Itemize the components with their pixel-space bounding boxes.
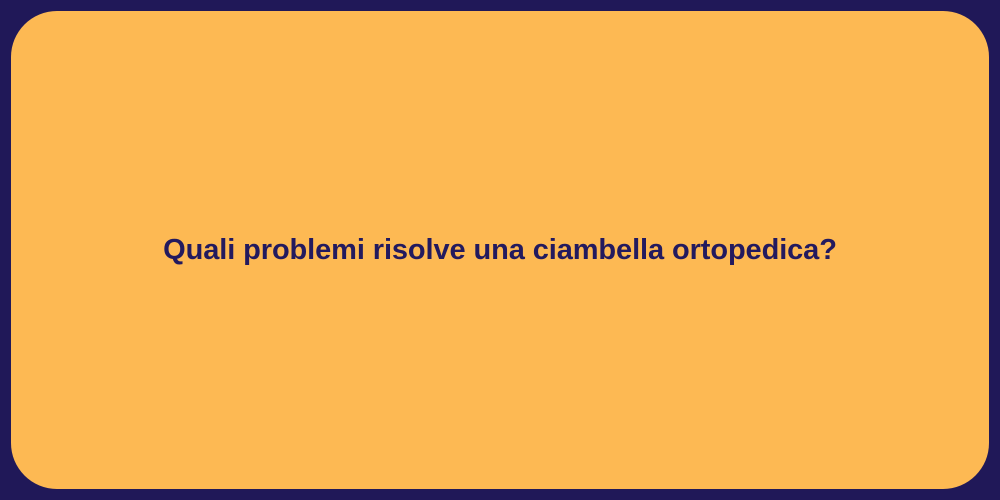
content-panel: Quali problemi risolve una ciambella ort… [11,11,989,489]
banner-frame: Quali problemi risolve una ciambella ort… [0,0,1000,500]
headline-question: Quali problemi risolve una ciambella ort… [123,232,877,268]
